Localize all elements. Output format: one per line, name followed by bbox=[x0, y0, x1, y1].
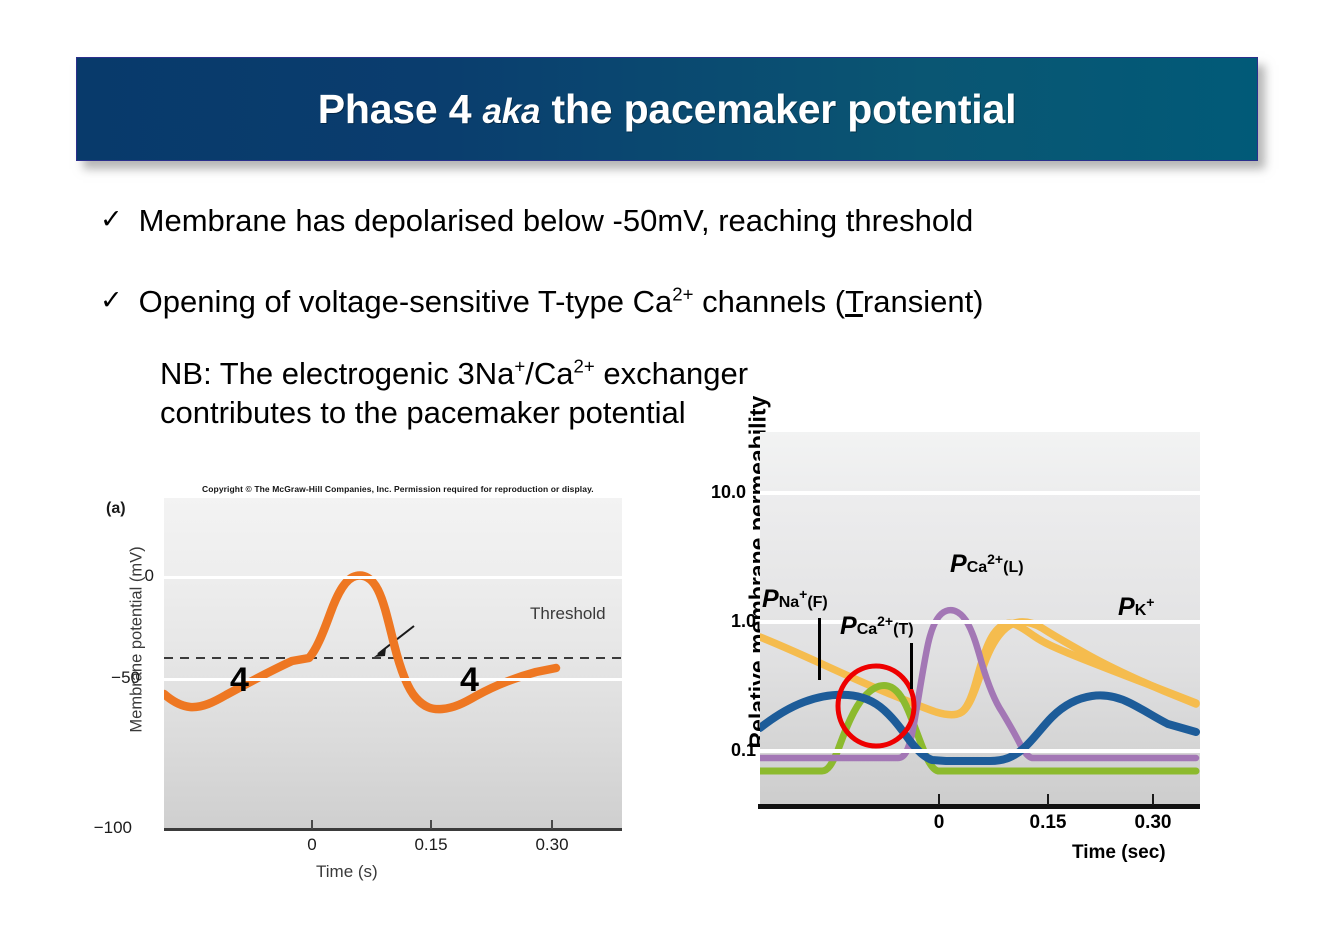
curve-label-p-ca-t-p: P bbox=[840, 612, 857, 640]
x-tick-label-015: 0.15 bbox=[1013, 812, 1083, 834]
curve-label-p-na-f-sub: Na bbox=[779, 594, 799, 611]
bullet-2-mid: channels ( bbox=[693, 284, 845, 319]
bullet-item-2-label: Opening of voltage-sensitive T-type Ca2+… bbox=[139, 285, 984, 320]
y-tick-label-10: 10.0 bbox=[698, 482, 746, 503]
curve-label-p-na-f-p: P bbox=[762, 585, 779, 613]
bullet-item-2: ✓ Opening of voltage-sensitive T-type Ca… bbox=[100, 285, 984, 320]
phase-number-right: 4 bbox=[460, 661, 479, 700]
curve-label-p-k-sup: + bbox=[1146, 594, 1154, 610]
y-tick-label-100: −100 bbox=[86, 818, 132, 838]
chart-membrane-potential: Copyright © The McGraw-Hill Companies, I… bbox=[104, 480, 650, 890]
curve-label-p-k-sub: K bbox=[1135, 602, 1147, 619]
bullet-2-underlined-t: T bbox=[845, 284, 863, 319]
curve-label-p-ca-t-sub: Ca bbox=[857, 621, 877, 638]
x-tick-mark-0 bbox=[311, 820, 313, 829]
panel-label: (a) bbox=[106, 500, 126, 518]
gridline-10 bbox=[760, 491, 1200, 495]
gridline-0mv bbox=[164, 576, 622, 579]
note-pre: NB: The electrogenic 3Na bbox=[160, 356, 514, 391]
bullet-item-1-label: Membrane has depolarised below -50mV, re… bbox=[139, 204, 974, 239]
x-tick-label-030: 0.30 bbox=[1118, 812, 1188, 834]
leader-line-p-ca-t bbox=[910, 643, 913, 689]
y-tick-label-01: 0.1 bbox=[708, 740, 756, 761]
curve-label-p-ca-l-p: P bbox=[950, 550, 967, 578]
curve-label-p-ca-l-sup: 2+ bbox=[987, 551, 1003, 567]
membrane-potential-trace bbox=[164, 576, 556, 710]
checkmark-icon: ✓ bbox=[100, 285, 123, 316]
slide-title-bar: Phase 4 aka the pacemaker potential bbox=[76, 57, 1258, 161]
title-part-2: the pacemaker potential bbox=[540, 86, 1016, 132]
x-tick-label-0: 0 bbox=[282, 835, 342, 855]
bullet-item-1: ✓ Membrane has depolarised below -50mV, … bbox=[100, 204, 973, 239]
curve-label-p-na-f-paren: (F) bbox=[807, 594, 827, 611]
x-tick-mark-015 bbox=[1047, 794, 1049, 805]
curve-label-p-na-f: PNa+(F) bbox=[762, 585, 828, 614]
title-italic-aka: aka bbox=[483, 92, 541, 131]
chart-relative-membrane-permeability: Relative membrane permeability 10.0 1.0 … bbox=[700, 400, 1240, 910]
bullet-2-pre: Opening of voltage-sensitive T-type Ca bbox=[139, 284, 673, 319]
checkmark-icon: ✓ bbox=[100, 204, 123, 235]
x-tick-label-015: 0.15 bbox=[401, 835, 461, 855]
plot-area: 4 4 bbox=[164, 498, 622, 828]
y-tick-label-0: 0 bbox=[108, 566, 154, 586]
curve-label-p-k: PK+ bbox=[1118, 593, 1154, 622]
x-tick-label-030: 0.30 bbox=[522, 835, 582, 855]
note-sup-ca: 2+ bbox=[574, 356, 595, 377]
curve-label-p-ca-t-paren: (T) bbox=[893, 621, 913, 638]
title-part-1: Phase 4 bbox=[318, 86, 483, 132]
page-title: Phase 4 aka the pacemaker potential bbox=[318, 86, 1017, 133]
x-tick-mark-030 bbox=[551, 820, 553, 829]
curve-label-p-ca-l-sub: Ca bbox=[967, 559, 987, 576]
leader-line-p-na-f bbox=[818, 618, 821, 680]
y-tick-label-50: −50 bbox=[94, 668, 140, 688]
x-tick-mark-015 bbox=[430, 820, 432, 829]
copyright-notice: Copyright © The McGraw-Hill Companies, I… bbox=[202, 484, 594, 494]
threshold-annotation-label: Threshold bbox=[530, 604, 606, 624]
curve-label-p-ca-l: PCa2+(L) bbox=[950, 550, 1024, 579]
x-axis-label: Time (sec) bbox=[1072, 842, 1166, 864]
x-axis-label: Time (s) bbox=[316, 862, 378, 882]
curve-label-p-ca-t: PCa2+(T) bbox=[840, 612, 914, 641]
x-axis-line bbox=[758, 804, 1200, 809]
y-tick-label-1: 1.0 bbox=[708, 611, 756, 632]
x-tick-mark-0 bbox=[938, 794, 940, 805]
x-tick-label-0: 0 bbox=[904, 812, 974, 834]
note-sup-na: + bbox=[514, 356, 525, 377]
x-axis-line bbox=[164, 828, 622, 831]
x-tick-mark-030 bbox=[1152, 794, 1154, 805]
curve-label-p-ca-t-sup: 2+ bbox=[877, 613, 893, 629]
y-axis-label: Membrane potential (mV) bbox=[128, 515, 147, 765]
bullet-2-post: ransient) bbox=[863, 284, 984, 319]
curve-label-p-ca-l-paren: (L) bbox=[1003, 559, 1023, 576]
note-mid: /Ca bbox=[525, 356, 573, 391]
bullet-2-charge: 2+ bbox=[672, 284, 693, 305]
gridline-01 bbox=[760, 749, 1200, 753]
phase-number-left: 4 bbox=[230, 661, 249, 700]
curve-label-p-k-p: P bbox=[1118, 593, 1135, 621]
